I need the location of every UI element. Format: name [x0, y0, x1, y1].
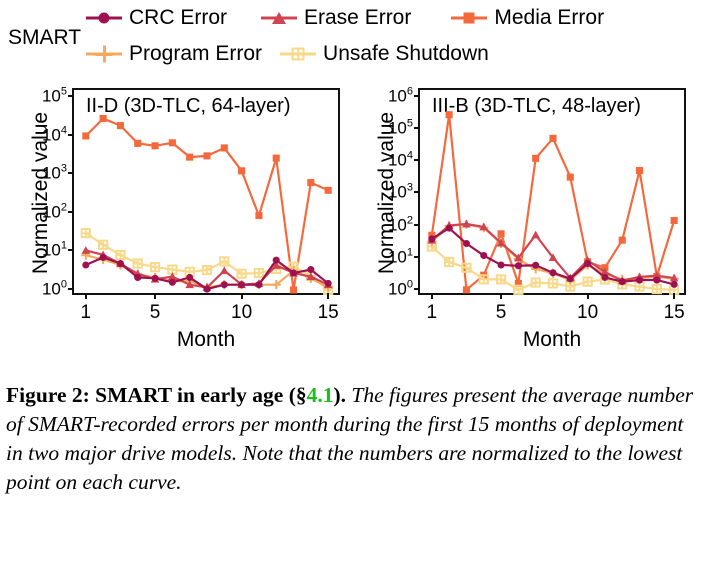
- x-tick-mark: [587, 293, 589, 299]
- x-tick-label: 10: [577, 302, 598, 324]
- y-tick-mark: [414, 95, 420, 97]
- legend-label-erase-error: Erase Error: [304, 6, 411, 30]
- data-point: [584, 260, 591, 267]
- legend-label-crc-error: CRC Error: [129, 6, 227, 30]
- data-point: [549, 279, 557, 287]
- data-point: [446, 111, 453, 118]
- caption-after-link: ).: [334, 383, 347, 407]
- data-point: [583, 278, 591, 286]
- media-error-marker-icon: [451, 9, 487, 27]
- data-point: [81, 246, 90, 254]
- y-tick-mark: [68, 211, 74, 213]
- data-point: [463, 286, 470, 293]
- data-point: [100, 115, 107, 122]
- data-point: [203, 266, 211, 274]
- data-point: [532, 278, 540, 286]
- figure-page: SMART CRC Error Erase Error Media Error: [0, 0, 701, 568]
- legend-item-erase-error[interactable]: Erase Error: [261, 6, 411, 30]
- charts-container: Normalized value II-D (3D-TLC, 64-layer)…: [0, 78, 701, 368]
- legend-label-media-error: Media Error: [494, 6, 604, 30]
- data-point: [151, 263, 159, 271]
- caption-figure-label: Figure 2: SMART in early age (§: [6, 383, 307, 407]
- data-point: [186, 154, 193, 161]
- legend-row-2: Program Error Unsafe Shutdown: [86, 42, 489, 66]
- data-point: [82, 132, 89, 139]
- data-point: [221, 144, 228, 151]
- data-point: [82, 261, 89, 268]
- y-tick-mark: [68, 288, 74, 290]
- unsafe-shutdown-marker-icon: [280, 45, 316, 63]
- data-point: [619, 237, 626, 244]
- y-tick-mark: [68, 172, 74, 174]
- x-tick-label: 10: [231, 302, 252, 324]
- data-point: [671, 217, 678, 224]
- data-point: [220, 266, 229, 274]
- x-tick-mark: [500, 293, 502, 299]
- x-tick-mark: [327, 293, 329, 299]
- data-point: [134, 274, 141, 281]
- data-point: [290, 270, 297, 277]
- x-tick-mark: [85, 293, 87, 299]
- data-point: [619, 278, 626, 285]
- data-point: [307, 179, 314, 186]
- data-point: [134, 259, 142, 267]
- figure-caption: Figure 2: SMART in early age (§4.1). The…: [6, 381, 696, 497]
- legend-row-1: CRC Error Erase Error Media Error: [86, 6, 604, 30]
- y-tick-mark: [414, 224, 420, 226]
- x-tick-label: 5: [496, 302, 507, 324]
- data-point: [221, 281, 228, 288]
- x-tick-label: 15: [318, 302, 339, 324]
- plot-svg-left: [74, 90, 338, 293]
- data-point: [273, 155, 280, 162]
- legend-title: SMART: [8, 26, 81, 50]
- data-point: [567, 275, 574, 282]
- data-point: [169, 139, 176, 146]
- y-axis-label-right-wrap: Normalized value: [356, 88, 382, 298]
- plot-area-right: III-B (3D-TLC, 48-layer) 100101102103104…: [418, 88, 686, 295]
- legend-label-unsafe-shutdown: Unsafe Shutdown: [323, 42, 489, 66]
- data-point: [255, 212, 262, 219]
- x-axis-label-left: Month: [72, 328, 340, 352]
- y-tick-mark: [68, 95, 74, 97]
- data-point: [203, 152, 210, 159]
- data-point: [671, 281, 678, 288]
- caption-section-link[interactable]: 4.1: [307, 383, 334, 407]
- data-point: [238, 167, 245, 174]
- data-point: [653, 285, 661, 293]
- data-point: [635, 282, 643, 290]
- data-point: [480, 252, 487, 259]
- data-point: [238, 281, 245, 288]
- data-point: [463, 240, 470, 247]
- data-point: [100, 254, 107, 261]
- data-point: [117, 122, 124, 129]
- x-tick-mark: [241, 293, 243, 299]
- chart-legend: SMART CRC Error Erase Error Media Error: [0, 0, 701, 78]
- data-point: [498, 261, 505, 268]
- data-point: [152, 142, 159, 149]
- data-point: [255, 281, 262, 288]
- legend-label-program-error: Program Error: [129, 42, 262, 66]
- data-point: [325, 280, 332, 287]
- plot-svg-right: [420, 90, 684, 293]
- y-tick-mark: [68, 134, 74, 136]
- chart-panel-right: Normalized value III-B (3D-TLC, 48-layer…: [352, 78, 698, 368]
- data-point: [531, 231, 540, 239]
- data-point: [549, 135, 556, 142]
- data-point: [169, 279, 176, 286]
- legend-item-unsafe-shutdown[interactable]: Unsafe Shutdown: [280, 42, 489, 66]
- data-point: [549, 269, 556, 276]
- x-tick-mark: [673, 293, 675, 299]
- x-tick-label: 5: [150, 302, 161, 324]
- y-tick-mark: [414, 191, 420, 193]
- y-tick-mark: [414, 127, 420, 129]
- data-point: [307, 266, 314, 273]
- y-tick-mark: [414, 256, 420, 258]
- data-point: [446, 225, 453, 232]
- data-point: [290, 286, 297, 293]
- chart-panel-left: Normalized value II-D (3D-TLC, 64-layer)…: [6, 78, 352, 368]
- data-point: [515, 262, 522, 269]
- data-point: [203, 286, 210, 293]
- x-tick-label: 15: [664, 302, 685, 324]
- program-error-marker-icon: [86, 45, 122, 63]
- data-point: [498, 230, 505, 237]
- data-point: [532, 155, 539, 162]
- data-point: [325, 187, 332, 194]
- data-point: [186, 274, 193, 281]
- x-tick-label: 1: [427, 302, 438, 324]
- data-point: [134, 140, 141, 147]
- data-point: [601, 274, 608, 281]
- y-axis-label-left-wrap: Normalized value: [10, 88, 36, 298]
- data-point: [636, 167, 643, 174]
- legend-item-media-error[interactable]: Media Error: [451, 6, 604, 30]
- erase-error-marker-icon: [261, 9, 297, 27]
- legend-item-program-error[interactable]: Program Error: [86, 42, 262, 66]
- x-tick-mark: [431, 293, 433, 299]
- x-axis-label-right: Month: [418, 328, 686, 352]
- y-tick-mark: [68, 249, 74, 251]
- x-tick-label: 1: [81, 302, 92, 324]
- data-point: [653, 277, 660, 284]
- plot-area-left: II-D (3D-TLC, 64-layer) 1001011021031041…: [72, 88, 340, 295]
- x-tick-mark: [154, 293, 156, 299]
- data-point: [636, 277, 643, 284]
- data-point: [428, 235, 435, 242]
- data-point: [532, 262, 539, 269]
- legend-item-crc-error[interactable]: CRC Error: [86, 6, 227, 30]
- data-point: [273, 257, 280, 264]
- y-tick-mark: [414, 159, 420, 161]
- crc-error-marker-icon: [86, 9, 122, 27]
- data-point: [255, 269, 263, 277]
- data-point: [152, 275, 159, 282]
- data-point: [117, 260, 124, 267]
- data-point: [567, 174, 574, 181]
- y-tick-mark: [414, 288, 420, 290]
